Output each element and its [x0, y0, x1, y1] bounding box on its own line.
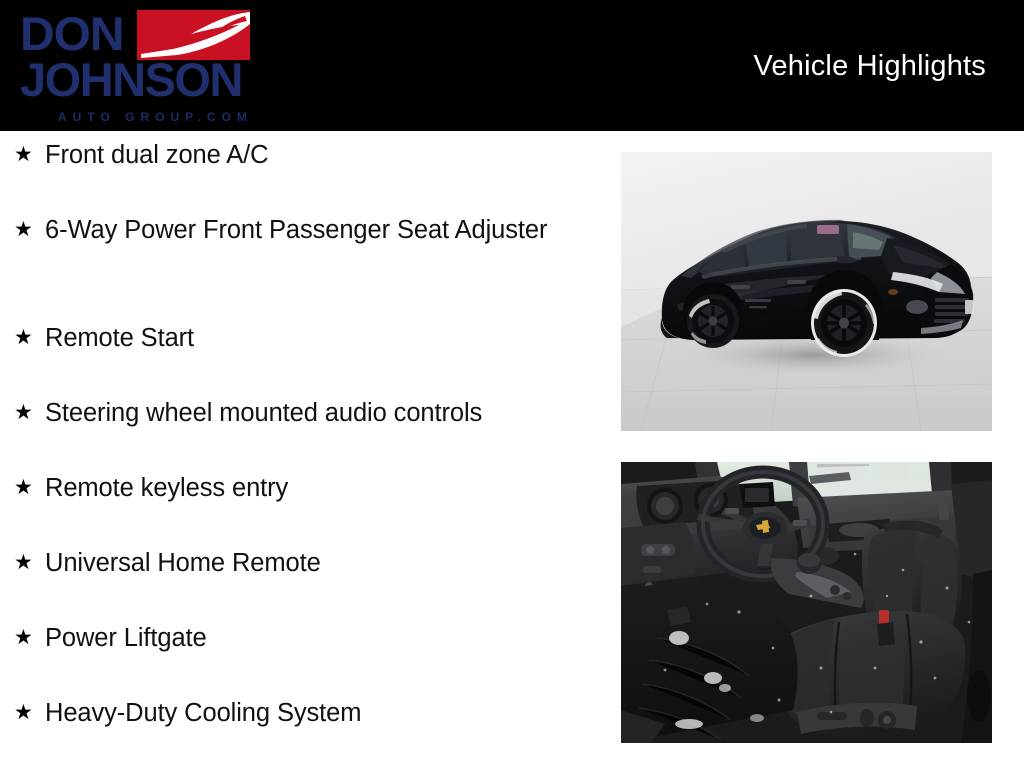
list-item-label: Steering wheel mounted audio controls [45, 397, 584, 429]
logo-tagline: AUTO GROUP.COM [58, 111, 253, 124]
list-item-label: 6-Way Power Front Passenger Seat Adjuste… [45, 214, 584, 246]
list-item: ★ Heavy-Duty Cooling System [14, 697, 584, 729]
vehicle-interior-photo[interactable] [621, 462, 992, 743]
vehicle-interior-illustration [621, 462, 992, 743]
vehicle-highlights-list: ★ Front dual zone A/C ★ 6-Way Power Fron… [0, 131, 600, 768]
page-header: DON JOHNSON AUTO GROUP.COM Vehicle Highl… [0, 0, 1024, 131]
list-item: ★ Front dual zone A/C [14, 139, 584, 171]
star-bullet-icon: ★ [14, 472, 45, 503]
star-bullet-icon: ★ [14, 397, 45, 428]
list-item-label: Remote Start [45, 322, 584, 354]
list-item-label: Universal Home Remote [45, 547, 584, 579]
list-item: ★ Universal Home Remote [14, 547, 584, 579]
vehicle-exterior-photo[interactable] [621, 152, 992, 431]
list-item: ★ Power Liftgate [14, 622, 584, 654]
page-title: Vehicle Highlights [753, 50, 986, 83]
logo-text-johnson: JOHNSON [20, 56, 242, 103]
list-item-label: Heavy-Duty Cooling System [45, 697, 584, 729]
dealership-logo[interactable]: DON JOHNSON AUTO GROUP.COM [20, 4, 270, 128]
star-bullet-icon: ★ [14, 697, 45, 728]
list-item: ★ Remote Start [14, 322, 584, 354]
star-bullet-icon: ★ [14, 214, 45, 245]
star-bullet-icon: ★ [14, 547, 45, 578]
list-item: ★ Remote keyless entry [14, 472, 584, 504]
list-item: ★ Steering wheel mounted audio controls [14, 397, 584, 429]
star-bullet-icon: ★ [14, 139, 45, 170]
vehicle-exterior-illustration [621, 152, 992, 431]
list-item: ★ 6-Way Power Front Passenger Seat Adjus… [14, 214, 584, 246]
star-bullet-icon: ★ [14, 622, 45, 653]
list-item-label: Power Liftgate [45, 622, 584, 654]
list-item-label: Front dual zone A/C [45, 139, 584, 171]
list-item-label: Remote keyless entry [45, 472, 584, 504]
star-bullet-icon: ★ [14, 322, 45, 353]
logo-text-don: DON [20, 10, 123, 57]
